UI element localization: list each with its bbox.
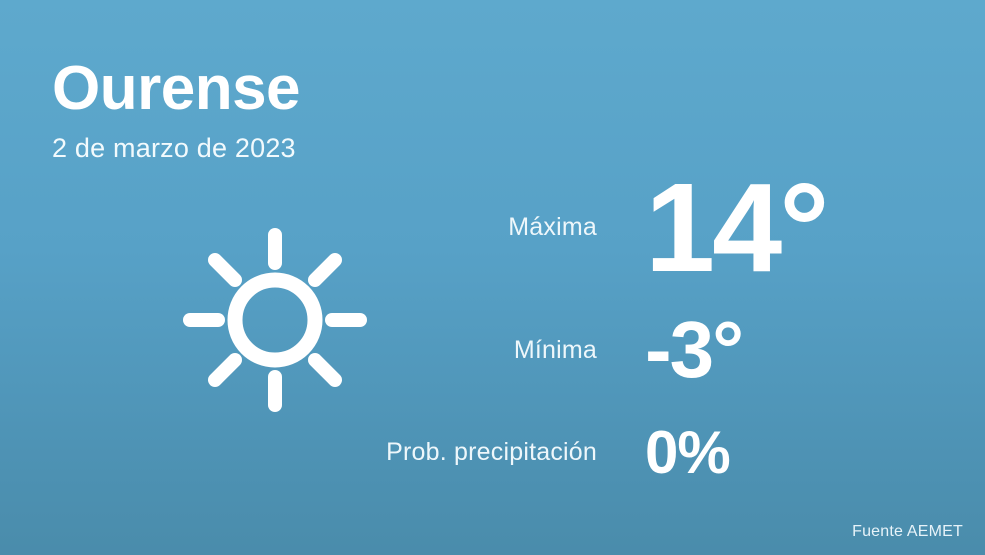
page-title: Ourense bbox=[52, 56, 300, 121]
reading-row-maxima: Máxima 14° bbox=[300, 160, 940, 295]
readings-list: Máxima 14° Mínima -3° Prob. precipitació… bbox=[300, 160, 940, 500]
reading-value-precipitacion: 0% bbox=[645, 423, 730, 483]
reading-row-precipitacion: Prob. precipitación 0% bbox=[300, 405, 940, 500]
weather-widget: Ourense 2 de marzo de 2023 Máxi bbox=[0, 0, 985, 555]
reading-value-minima: -3° bbox=[645, 310, 742, 390]
reading-value-maxima: 14° bbox=[645, 165, 827, 291]
reading-label-minima: Mínima bbox=[300, 336, 645, 365]
source-attribution: Fuente AEMET bbox=[852, 523, 963, 541]
header: Ourense 2 de marzo de 2023 bbox=[52, 56, 300, 164]
forecast-date: 2 de marzo de 2023 bbox=[52, 133, 300, 164]
reading-label-precipitacion: Prob. precipitación bbox=[300, 438, 645, 467]
reading-row-minima: Mínima -3° bbox=[300, 295, 940, 405]
reading-label-maxima: Máxima bbox=[300, 213, 645, 242]
